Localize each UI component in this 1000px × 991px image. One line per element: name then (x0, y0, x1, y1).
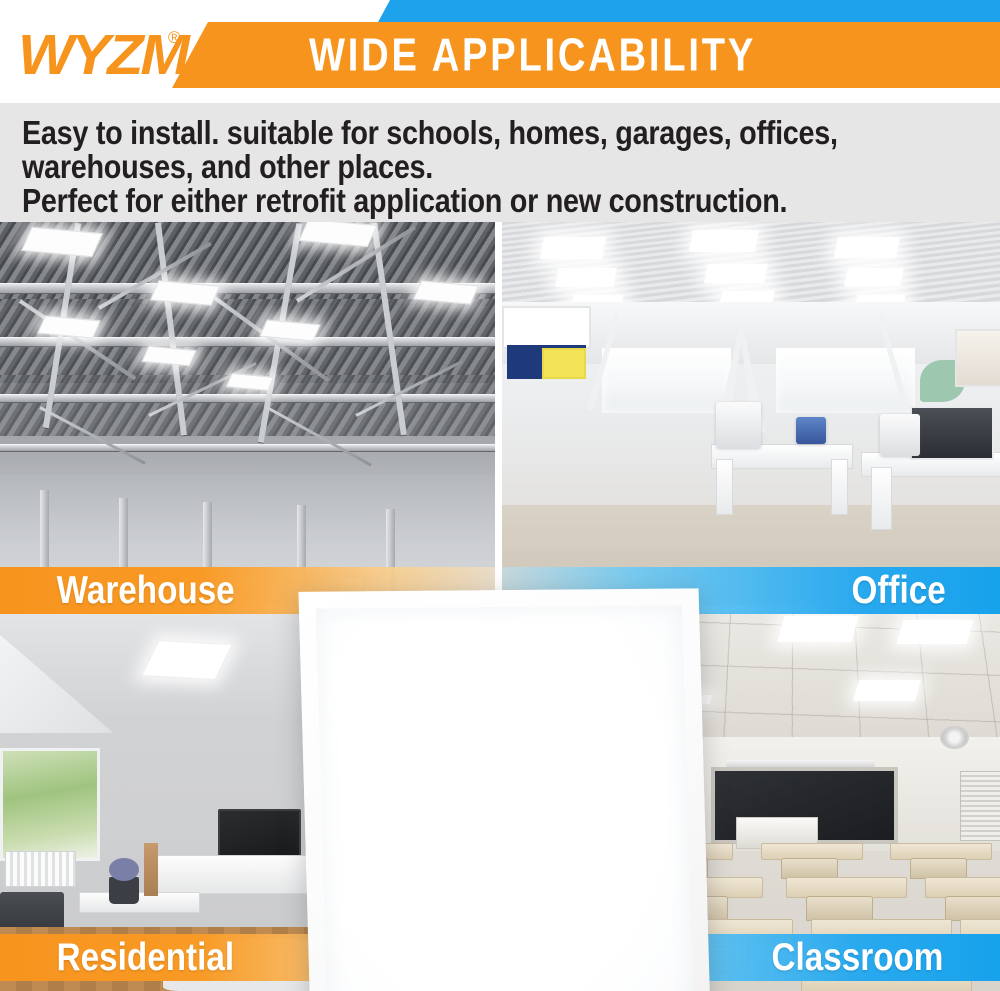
classroom-chair (910, 858, 967, 879)
office-monitor (880, 414, 920, 456)
scene-office (502, 222, 1000, 605)
office-monitor (796, 417, 826, 444)
subtitle-line-3: Perfect for either retrofit application … (22, 183, 961, 221)
scene-grid: Warehouse Office Residential Classroom (0, 222, 1000, 991)
subtitle-line-2: warehouses, and other places. (22, 149, 961, 187)
office-ceiling-panel (844, 268, 903, 286)
caption-residential-label: Residential (57, 932, 234, 984)
led-panel-diffuser (316, 605, 694, 991)
subtitle-line-1: Easy to install. suitable for schools, h… (22, 115, 961, 153)
caption-office-label: Office (851, 565, 945, 617)
header-title: WIDE APPLICABILITY (35, 18, 965, 92)
product-marketing-image: WYZM ® WIDE APPLICABILITY Easy to instal… (0, 0, 1000, 991)
office-ceiling-panel (540, 237, 606, 259)
classroom-ceiling-panel (777, 616, 858, 642)
classroom-ceiling-panel (897, 620, 974, 644)
office-ceiling-panel (704, 264, 768, 283)
office-ceiling-panel (555, 268, 617, 287)
office-ceiling-panel (834, 237, 900, 258)
classroom-desk (925, 877, 1000, 898)
residential-tv (218, 809, 301, 858)
office-photo (502, 222, 1000, 605)
header-banner: WYZM ® WIDE APPLICABILITY (0, 0, 1000, 103)
led-flat-panel-light (298, 588, 711, 991)
classroom-desk (786, 877, 908, 898)
classroom-wall-fan (940, 726, 969, 749)
office-monitor (716, 402, 761, 448)
classroom-ceiling-panel (853, 680, 921, 701)
residential-window (0, 748, 100, 860)
warehouse-photo (0, 222, 495, 605)
office-monitor (910, 406, 994, 460)
residential-plant-pot (109, 877, 139, 904)
residential-plant (109, 858, 139, 881)
office-ceiling-panel (689, 230, 759, 252)
scene-warehouse (0, 222, 495, 605)
caption-classroom-label: Classroom (772, 932, 944, 984)
classroom-chair (945, 896, 1000, 921)
subtitle-panel: Easy to install. suitable for schools, h… (0, 103, 1000, 222)
classroom-chair (806, 896, 873, 921)
caption-warehouse-label: Warehouse (57, 565, 235, 617)
classroom-chair (781, 858, 838, 879)
